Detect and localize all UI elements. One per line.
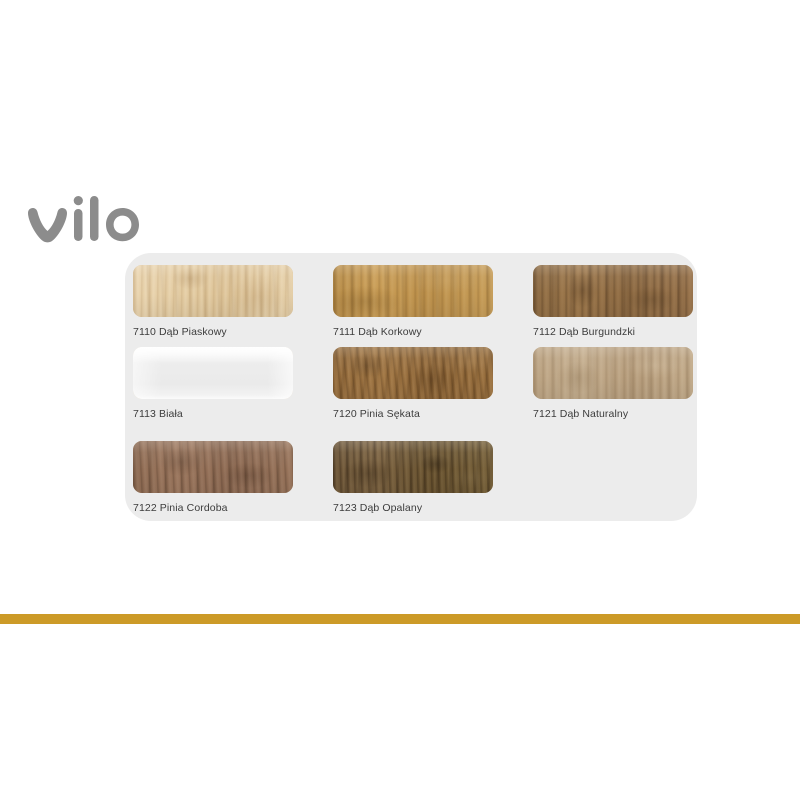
swatch-tile-7121[interactable] [533, 347, 693, 399]
swatch-cell-7120[interactable]: 7120 Pinia Sękata [333, 347, 495, 421]
swatch-label-7123: 7123 Dąb Opalany [333, 502, 495, 515]
swatch-sheen-7112 [533, 265, 693, 317]
swatch-cell-7123[interactable]: 7123 Dąb Opalany [333, 441, 495, 515]
swatch-tile-7110[interactable] [133, 265, 293, 317]
swatch-tile-7111[interactable] [333, 265, 493, 317]
swatch-tile-7113[interactable] [133, 347, 293, 399]
swatch-cell-7110[interactable]: 7110 Dąb Piaskowy [133, 265, 295, 339]
colour-chart-panel: 7110 Dąb Piaskowy 7111 Dąb Korkowy 7112 … [125, 253, 697, 521]
swatch-label-7112: 7112 Dąb Burgundzki [533, 326, 695, 339]
swatch-tile-7120[interactable] [333, 347, 493, 399]
swatch-tile-7122[interactable] [133, 441, 293, 493]
swatch-cell-7121[interactable]: 7121 Dąb Naturalny [533, 347, 695, 421]
swatch-cell-7111[interactable]: 7111 Dąb Korkowy [333, 265, 495, 339]
swatch-label-7111: 7111 Dąb Korkowy [333, 326, 495, 339]
swatch-sheen-7121 [533, 347, 693, 399]
swatch-sheen-7113 [133, 347, 293, 399]
page-root: 7110 Dąb Piaskowy 7111 Dąb Korkowy 7112 … [0, 0, 800, 800]
swatch-grid: 7110 Dąb Piaskowy 7111 Dąb Korkowy 7112 … [125, 253, 697, 521]
swatch-sheen-7111 [333, 265, 493, 317]
vilo-logo-icon [26, 196, 146, 252]
swatch-label-7120: 7120 Pinia Sękata [333, 408, 495, 421]
swatch-label-7113: 7113 Biała [133, 408, 295, 421]
swatch-tile-7112[interactable] [533, 265, 693, 317]
swatch-sheen-7123 [333, 441, 493, 493]
swatch-label-7110: 7110 Dąb Piaskowy [133, 326, 295, 339]
swatch-cell-7112[interactable]: 7112 Dąb Burgundzki [533, 265, 695, 339]
swatch-label-7121: 7121 Dąb Naturalny [533, 408, 695, 421]
swatch-tile-7123[interactable] [333, 441, 493, 493]
footer-accent-bar [0, 614, 800, 624]
swatch-sheen-7122 [133, 441, 293, 493]
swatch-sheen-7120 [333, 347, 493, 399]
swatch-cell-7113[interactable]: 7113 Biała [133, 347, 295, 421]
swatch-sheen-7110 [133, 265, 293, 317]
vilo-logo [26, 196, 146, 252]
swatch-label-7122: 7122 Pinia Cordoba [133, 502, 295, 515]
swatch-cell-7122[interactable]: 7122 Pinia Cordoba [133, 441, 295, 515]
